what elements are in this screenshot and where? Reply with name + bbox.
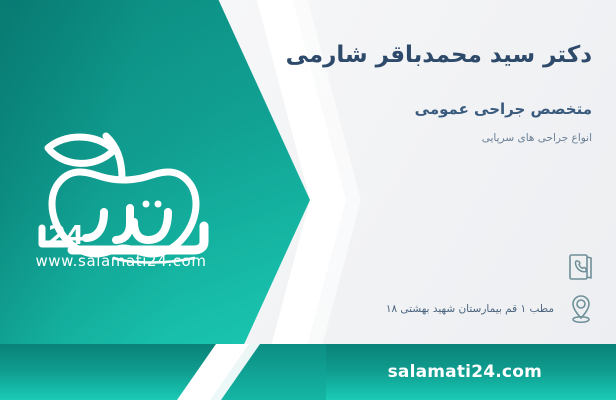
phone-book-icon <box>564 250 598 284</box>
contact-list: مطب ۱ قم بیمارستان شهید بهشتی ۱۸ <box>178 246 598 330</box>
doctor-name: دکتر سید محمدباقر شارمی <box>172 40 592 71</box>
salamati24-logo: 24 <box>18 108 230 268</box>
doctor-specialty: متخصص جراحی عمومی <box>172 100 592 118</box>
logo-badge-number: 24 <box>48 221 84 251</box>
location-pin-icon <box>564 292 598 326</box>
contact-row-phone[interactable] <box>178 246 598 288</box>
logo-website-url: www.salamati24.com <box>16 252 226 270</box>
logo-artwork: 24 <box>18 108 230 268</box>
contact-row-address[interactable]: مطب ۱ قم بیمارستان شهید بهشتی ۱۸ <box>178 288 598 330</box>
business-card: 24 www.salamati24.com دکتر سید محمدباقر … <box>0 0 616 400</box>
doctor-subtitle: انواع جراحی های سرپایی <box>172 132 592 144</box>
contact-address-label: مطب ۱ قم بیمارستان شهید بهشتی ۱۸ <box>386 303 554 315</box>
footer-site-url[interactable]: salamati24.com <box>388 344 542 400</box>
